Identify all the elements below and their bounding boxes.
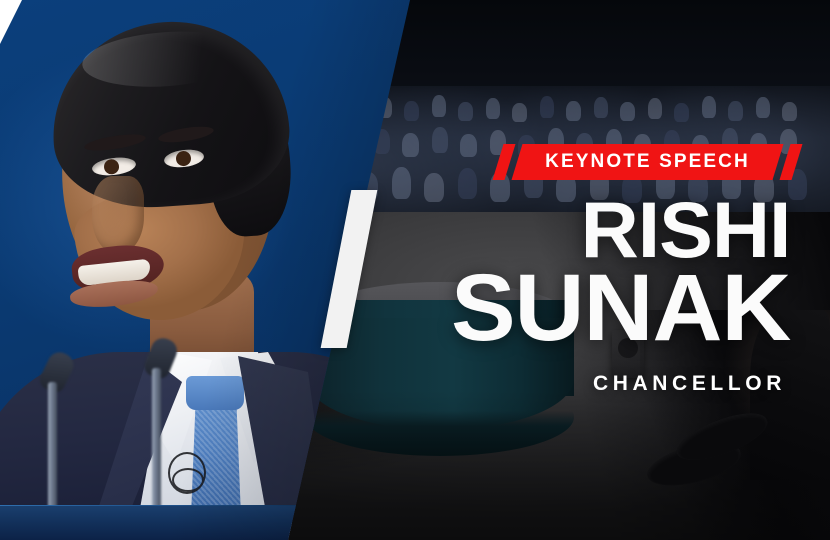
last-name: SUNAK [342, 268, 791, 350]
role-title: CHANCELLOR [346, 372, 786, 396]
banner-label: KEYNOTE SPEECH [517, 144, 778, 180]
first-name: RISHI [342, 196, 791, 264]
keynote-speech-graphic: KEYNOTE SPEECH RISHI SUNAK CHANCELLOR [0, 0, 830, 540]
title-block: RISHI SUNAK CHANCELLOR [346, 196, 786, 396]
